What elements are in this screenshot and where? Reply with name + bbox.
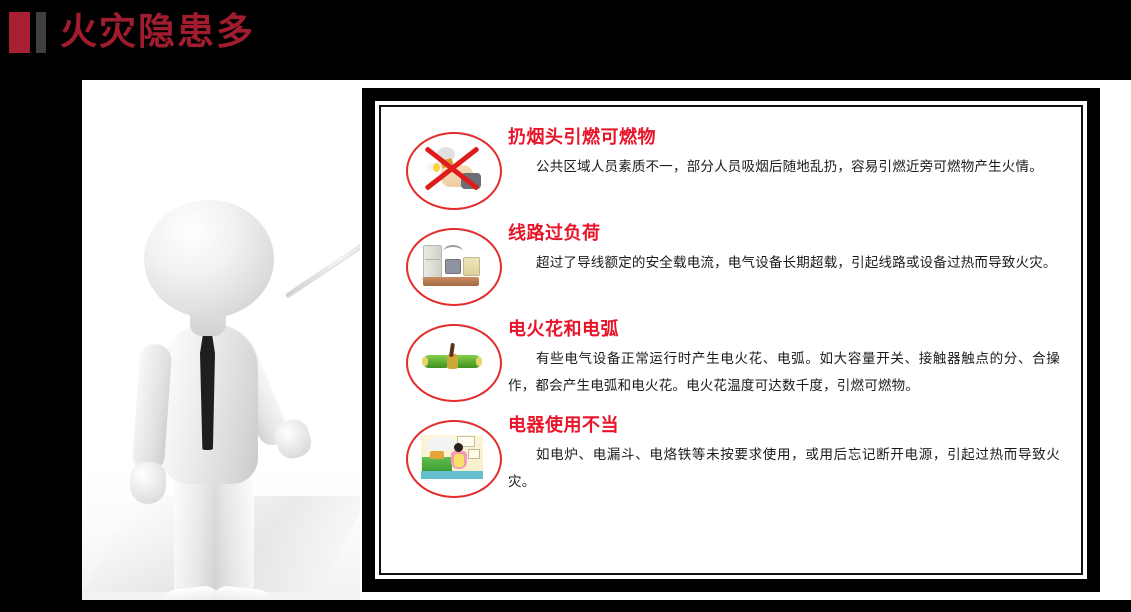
frame-white-mat: 扔烟头引燃可燃物 公共区域人员素质不一，部分人员吸烟后随地乱扔，容易引燃近旁可燃… (375, 101, 1087, 579)
item-text-cell: 电火花和电弧 有些电气设备正常运行时产生电火花、电弧。如大容量开关、接触器触点的… (504, 318, 1060, 400)
figure-left-leg (174, 470, 214, 600)
item-body: 公共区域人员素质不一，部分人员吸烟后随地乱扔，容易引燃近旁可燃物产生火情。 (508, 154, 1060, 181)
page-title: 火灾隐患多 (60, 7, 255, 57)
bottom-black-bar (0, 600, 1131, 612)
overloaded-appliances-icon (421, 241, 483, 289)
title-gray-block (36, 12, 46, 53)
left-black-bar (0, 80, 82, 600)
item-icon-cell (400, 318, 504, 404)
pot-shape (430, 451, 444, 459)
list-item[interactable]: 电火花和电弧 有些电气设备正常运行时产生电火花、电弧。如大容量开关、接触器触点的… (384, 308, 1078, 404)
pointer-stick-tip (285, 190, 360, 297)
kitchen-appliance-misuse-icon (421, 433, 483, 481)
frame-content-area: 扔烟头引燃可燃物 公共区域人员素质不一，部分人员吸烟后随地乱扔，容易引燃近旁可燃… (384, 110, 1078, 570)
item-body: 如电炉、电漏斗、电烙铁等未按要求使用，或用后忘记断开电源，引起过热而导致火灾。 (508, 442, 1060, 496)
slide-root: 火灾隐患多 (0, 0, 1131, 612)
item-text-cell: 扔烟头引燃可燃物 公共区域人员素质不一，部分人员吸烟后随地乱扔，容易引燃近旁可燃… (504, 126, 1060, 181)
steam-arc-shape (443, 245, 463, 259)
counter-shape (422, 457, 452, 471)
figure-3d-person (100, 184, 350, 600)
person-head-shape (454, 443, 463, 452)
figure-left-hand (130, 462, 166, 504)
content-frame: 扔烟头引燃可燃物 公共区域人员素质不一，部分人员吸烟后随地乱扔，容易引燃近旁可燃… (362, 88, 1100, 592)
apron-shape (454, 454, 464, 467)
figure-right-shoe (210, 585, 277, 600)
frame-inner-line: 扔烟头引燃可燃物 公共区域人员素质不一，部分人员吸烟后随地乱扔，容易引燃近旁可燃… (379, 105, 1083, 575)
figure-right-leg (214, 470, 254, 600)
title-red-block (9, 12, 30, 53)
item-heading: 电火花和电弧 (508, 318, 1060, 342)
wall-switch-shape (468, 449, 480, 459)
kitchen-floor-shape (421, 471, 483, 479)
cable-tip-left (422, 357, 428, 366)
electric-spark-cable-icon (421, 337, 483, 385)
list-item[interactable]: 线路过负荷 超过了导线额定的安全载电流，电气设备长期超载，引起线路或设备过热而导… (384, 212, 1078, 308)
no-smoking-cigarette-icon (421, 145, 483, 193)
figure-necktie (200, 332, 215, 450)
item-heading: 扔烟头引燃可燃物 (508, 126, 1060, 150)
item-icon-cell (400, 222, 504, 308)
flame-shape (433, 163, 440, 172)
pointer-stick-icon (285, 190, 360, 297)
item-icon-cell (400, 414, 504, 500)
kettle-shape (463, 257, 480, 276)
item-body: 有些电气设备正常运行时产生电火花、电弧。如大容量开关、接触器触点的分、合操作，都… (508, 346, 1060, 400)
figure-head (144, 200, 274, 318)
smoke-cloud-shape (426, 437, 450, 452)
cooker-shape (445, 259, 461, 274)
item-heading: 电器使用不当 (508, 414, 1060, 438)
cable-tip-right (476, 357, 482, 366)
item-heading: 线路过负荷 (508, 222, 1060, 246)
illustration-panel (82, 80, 360, 600)
list-item[interactable]: 电器使用不当 如电炉、电漏斗、电烙铁等未按要求使用，或用后忘记断开电源，引起过热… (384, 404, 1078, 500)
item-body: 超过了导线额定的安全载电流，电气设备长期超载，引起线路或设备过热而导致火灾。 (508, 250, 1060, 277)
item-icon-cell (400, 126, 504, 212)
item-text-cell: 线路过负荷 超过了导线额定的安全载电流，电气设备长期超载，引起线路或设备过热而导… (504, 222, 1060, 277)
power-strip-shape (423, 277, 479, 286)
item-text-cell: 电器使用不当 如电炉、电漏斗、电烙铁等未按要求使用，或用后忘记断开电源，引起过热… (504, 414, 1060, 496)
list-item[interactable]: 扔烟头引燃可燃物 公共区域人员素质不一，部分人员吸烟后随地乱扔，容易引燃近旁可燃… (384, 110, 1078, 212)
